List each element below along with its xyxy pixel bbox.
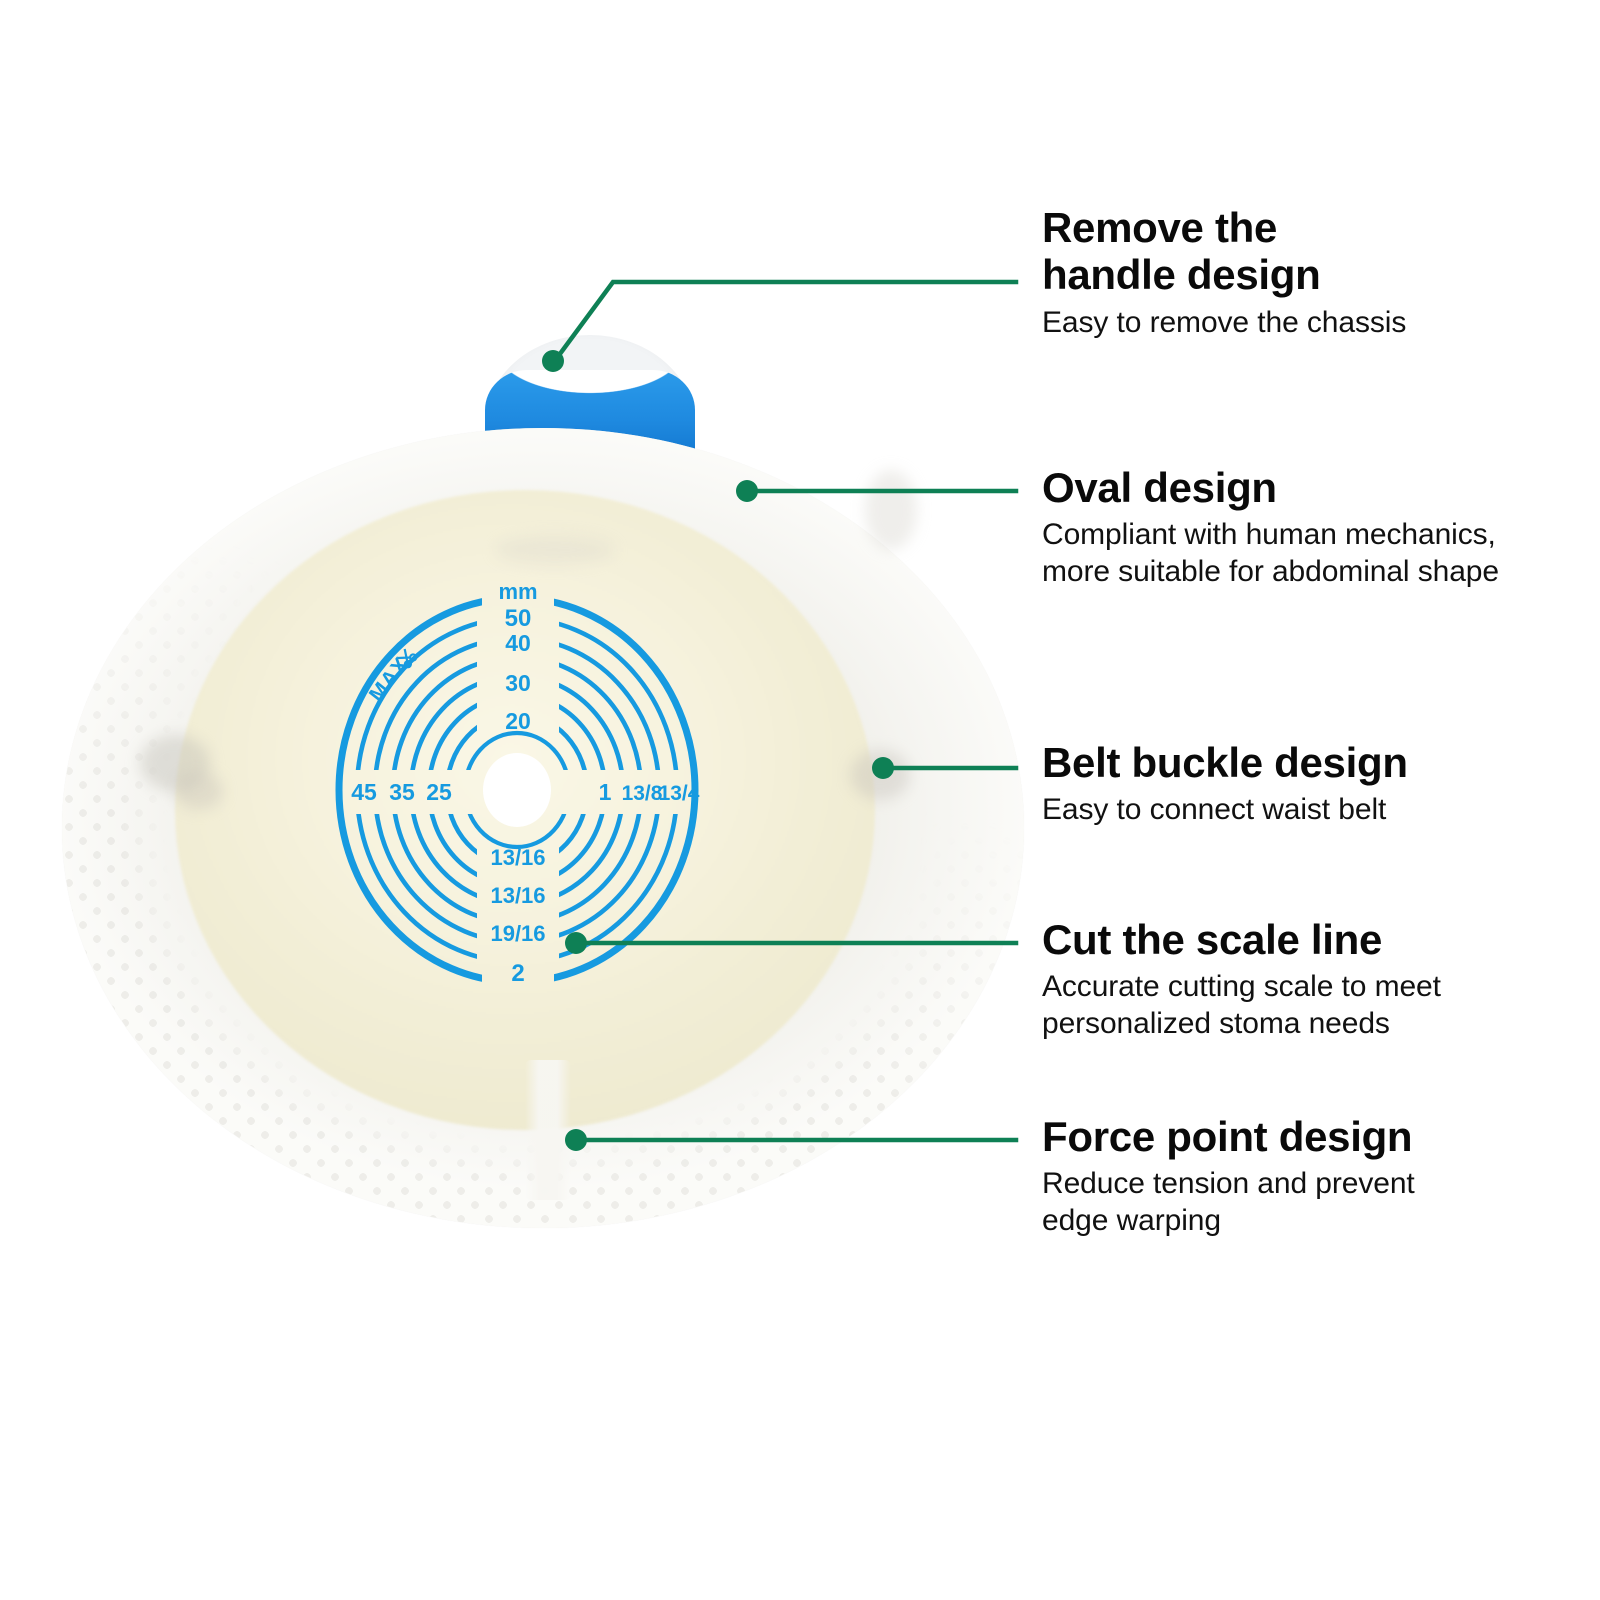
surface-blotch bbox=[865, 470, 917, 550]
callout-title-belt-buckle: Belt buckle design bbox=[1042, 739, 1600, 786]
force-point-notch bbox=[525, 1060, 571, 1200]
scale-label-50: 50 bbox=[505, 605, 532, 632]
scale-label-1-3-8: 13/8 bbox=[622, 782, 663, 805]
scale-label-13-16-b: 13/16 bbox=[490, 883, 545, 908]
callout-oval-design: Oval design Compliant with human mechani… bbox=[1042, 464, 1600, 591]
scale-label-20: 20 bbox=[505, 708, 531, 734]
callout-cut-scale-line: Cut the scale line Accurate cutting scal… bbox=[1042, 916, 1600, 1043]
surface-blotch bbox=[850, 750, 910, 800]
callout-title-cut-scale-line: Cut the scale line bbox=[1042, 916, 1600, 963]
scale-label-19-16: 19/16 bbox=[490, 921, 545, 946]
surface-blotch bbox=[175, 772, 223, 810]
scale-label-40: 40 bbox=[505, 630, 531, 656]
scale-label-35: 35 bbox=[389, 779, 415, 805]
callout-belt-buckle: Belt buckle design Easy to connect waist… bbox=[1042, 739, 1600, 829]
callout-subtitle-belt-buckle: Easy to connect waist belt bbox=[1042, 792, 1600, 829]
callout-title-force-point: Force point design bbox=[1042, 1113, 1600, 1160]
scale-label-45: 45 bbox=[351, 779, 377, 805]
product-image: mm 50 40 30 20 45 35 25 1 13/8 13/4 13/1… bbox=[55, 320, 1030, 1230]
scale-label-2in: 2 bbox=[511, 960, 524, 987]
scale-label-30: 30 bbox=[505, 670, 531, 696]
callout-title-remove-handle: Remove the handle design bbox=[1042, 204, 1600, 299]
callout-subtitle-remove-handle: Easy to remove the chassis bbox=[1042, 305, 1600, 342]
surface-blotch bbox=[495, 535, 615, 565]
scale-label-1-3-4: 13/4 bbox=[659, 782, 700, 805]
scale-unit-label: mm bbox=[498, 585, 537, 604]
callout-force-point: Force point design Reduce tension and pr… bbox=[1042, 1113, 1600, 1240]
callout-title-oval-design: Oval design bbox=[1042, 464, 1600, 511]
callout-subtitle-cut-scale-line: Accurate cutting scale to meet personali… bbox=[1042, 969, 1600, 1042]
callout-subtitle-force-point: Reduce tension and prevent edge warping bbox=[1042, 1166, 1600, 1239]
cutting-scale-graphic: mm 50 40 30 20 45 35 25 1 13/8 13/4 13/1… bbox=[327, 585, 707, 995]
scale-label-13-16-a: 13/16 bbox=[490, 845, 545, 870]
scale-label-25: 25 bbox=[426, 779, 452, 805]
callout-remove-handle: Remove the handle design Easy to remove … bbox=[1042, 204, 1600, 342]
infographic-canvas: mm 50 40 30 20 45 35 25 1 13/8 13/4 13/1… bbox=[0, 0, 1600, 1600]
scale-label-1in: 1 bbox=[599, 779, 612, 805]
callout-subtitle-oval-design: Compliant with human mechanics, more sui… bbox=[1042, 517, 1600, 590]
